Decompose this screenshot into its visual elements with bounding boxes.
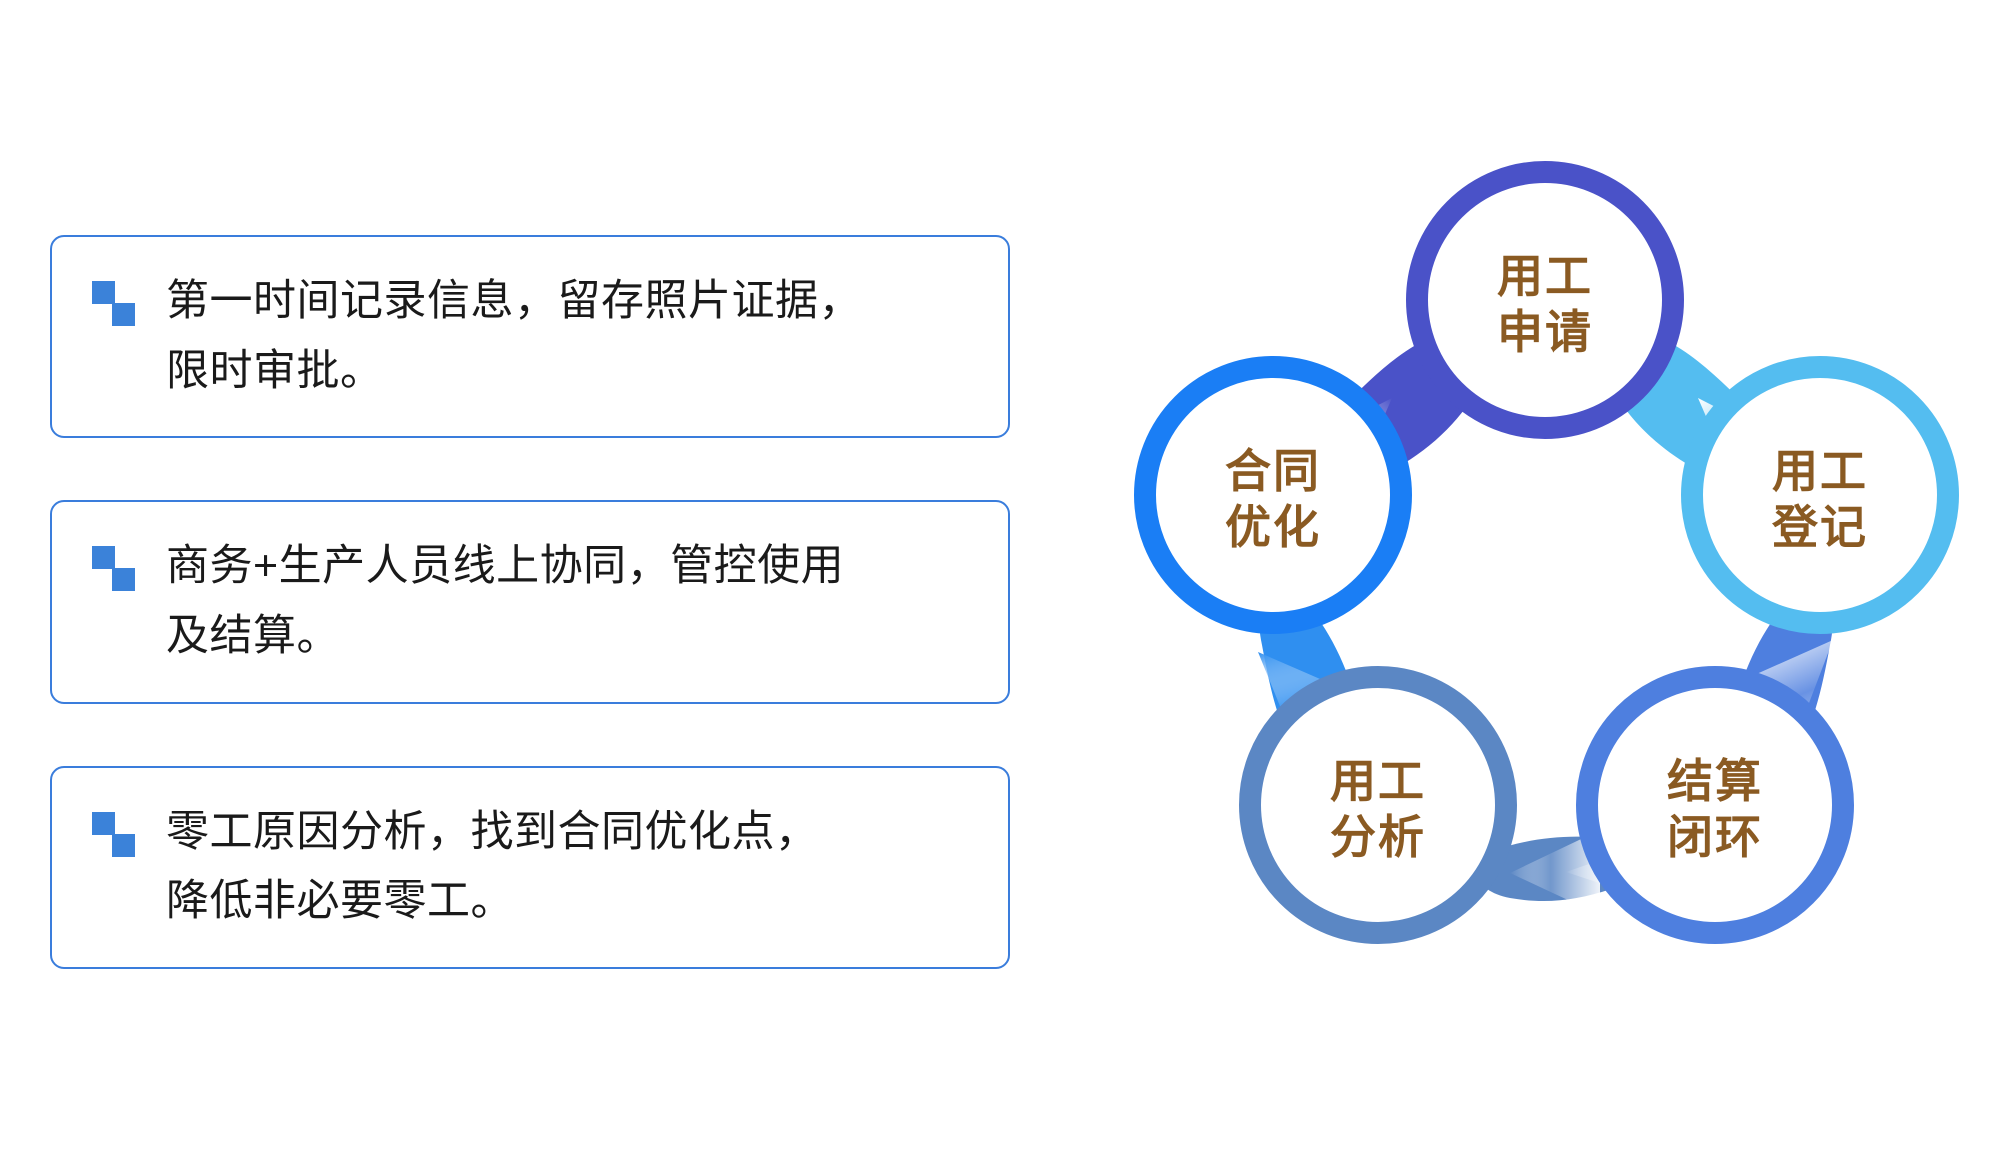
node-contract-label-line-1: 合同	[1225, 446, 1321, 497]
bullet-card-record[interactable]: 第一时间记录信息，留存照片证据， 限时审批。	[50, 235, 1010, 438]
node-apply-label-line-1: 用工	[1497, 251, 1593, 302]
bullet-card-line-1: 零工原因分析，找到合同优化点，	[166, 808, 819, 856]
node-contract-label-line-2: 优化	[1225, 502, 1321, 553]
bullet-card-analysis[interactable]: 零工原因分析，找到合同优化点， 降低非必要零工。	[50, 766, 1010, 969]
node-apply[interactable]: 用工 申请	[1417, 172, 1673, 428]
node-register[interactable]: 用工 登记	[1692, 367, 1948, 623]
node-register-label-line-2: 登记	[1771, 502, 1868, 553]
two-squares-bullet-icon	[92, 281, 140, 337]
node-settlement-label-line-1: 结算	[1667, 756, 1763, 807]
node-settlement[interactable]: 结算 闭环	[1587, 677, 1843, 933]
bullet-card-line-1: 商务+生产人员线上协同，管控使用	[166, 542, 844, 590]
bullet-card-text: 商务+生产人员线上协同，管控使用 及结算。	[166, 532, 974, 671]
bullet-card-collab[interactable]: 商务+生产人员线上协同，管控使用 及结算。	[50, 500, 1010, 703]
node-analysis-label-line-1: 用工	[1330, 756, 1426, 807]
node-analysis[interactable]: 用工 分析	[1250, 677, 1506, 933]
node-apply-label-line-2: 申请	[1497, 307, 1593, 358]
bullet-card-line-2: 及结算。	[166, 612, 340, 660]
five-step-cycle-diagram: 用工 申请 用工 登记 结算 闭环 用工 分析 合同 优化	[1130, 140, 1960, 970]
bullet-card-list: 第一时间记录信息，留存照片证据， 限时审批。 商务+生产人员线上协同，管控使用 …	[50, 235, 1010, 969]
bullet-card-line-2: 降低非必要零工。	[166, 877, 514, 925]
bullet-card-text: 第一时间记录信息，留存照片证据， 限时审批。	[166, 267, 974, 406]
node-settlement-label-line-2: 闭环	[1667, 812, 1763, 863]
node-analysis-label-line-2: 分析	[1330, 812, 1426, 863]
node-contract[interactable]: 合同 优化	[1145, 367, 1401, 623]
bullet-card-line-1: 第一时间记录信息，留存照片证据，	[166, 277, 862, 325]
node-register-label-line-1: 用工	[1772, 446, 1868, 497]
bullet-card-text: 零工原因分析，找到合同优化点， 降低非必要零工。	[166, 798, 974, 937]
two-squares-bullet-icon	[92, 812, 140, 868]
bullet-card-line-2: 限时审批。	[166, 347, 384, 395]
two-squares-bullet-icon	[92, 546, 140, 602]
